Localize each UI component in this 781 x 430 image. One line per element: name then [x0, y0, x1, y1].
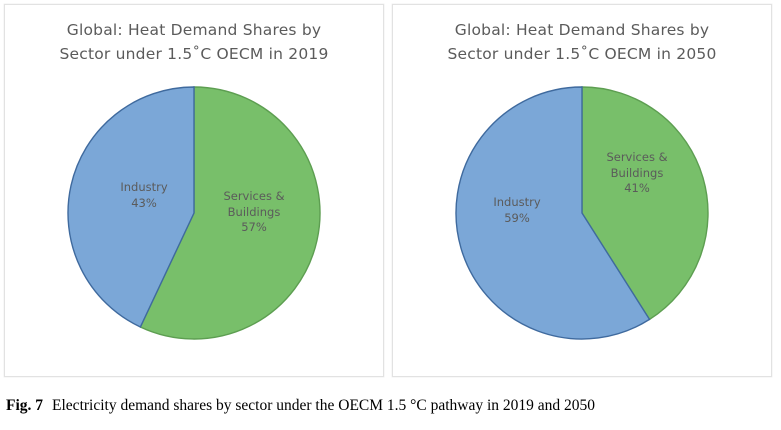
figure-caption-label: Fig. 7 [6, 397, 43, 414]
figure-area: Global: Heat Demand Shares by Sector und… [0, 0, 781, 385]
chart-panel-2019: Global: Heat Demand Shares by Sector und… [4, 4, 384, 377]
figure-caption-text: Electricity demand shares by sector unde… [52, 397, 595, 414]
pie-chart-2050: Industry 59% Services & Buildings 41% [451, 79, 713, 341]
pie-chart-2019: Industry 43% Services & Buildings 57% [63, 79, 325, 341]
pie-svg-2050 [451, 79, 713, 341]
chart-panel-2050: Global: Heat Demand Shares by Sector und… [392, 4, 772, 377]
chart-title-2050: Global: Heat Demand Shares by Sector und… [393, 18, 771, 66]
pie-svg-2019 [63, 79, 325, 341]
figure-caption: Fig. 7Electricity demand shares by secto… [6, 396, 776, 416]
chart-title-2019: Global: Heat Demand Shares by Sector und… [5, 18, 383, 66]
